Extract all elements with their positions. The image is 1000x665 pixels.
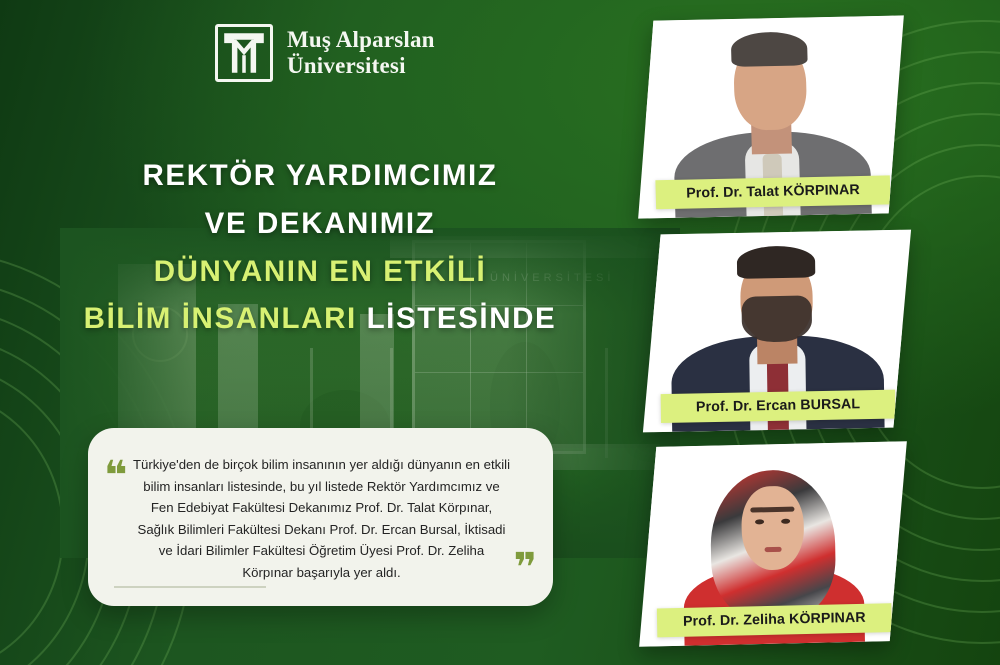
logo-glyph-icon <box>222 31 266 75</box>
name-banner: Prof. Dr. Zeliha KÖRPINAR <box>657 603 892 637</box>
headline-line-4-accent: BİLİM İNSANLARI <box>84 302 367 335</box>
headline: REKTÖR YARDIMCIMIZ VE DEKANIMIZ DÜNYANIN… <box>0 152 640 343</box>
poster-canvas: ÜNİVERSİTESİ Muş Alparslan Üniversitesi … <box>0 0 1000 665</box>
quote-open-icon: ❝ <box>104 456 127 496</box>
quote-card: ❝ Türkiye'den de birçok bilim insanının … <box>88 428 553 606</box>
quote-text: Türkiye'den de birçok bilim insanının ye… <box>132 454 511 583</box>
brand-logo: Muş Alparslan Üniversitesi <box>215 24 435 82</box>
quote-divider <box>114 586 266 588</box>
portrait-card-ercan-bursal: Prof. Dr. Ercan BURSAL <box>643 230 911 433</box>
name-banner: Prof. Dr. Talat KÖRPINAR <box>655 175 890 209</box>
brand-line-2: Üniversitesi <box>287 53 435 79</box>
headline-line-3: DÜNYANIN EN ETKİLİ <box>0 248 640 296</box>
portrait-card-talat-korpinar: Prof. Dr. Talat KÖRPINAR <box>638 15 904 218</box>
brand-name: Muş Alparslan Üniversitesi <box>287 27 435 79</box>
headline-line-4-plain: LİSTESİNDE <box>367 302 557 335</box>
portrait-card-zeliha-korpinar: Prof. Dr. Zeliha KÖRPINAR <box>639 441 907 647</box>
name-banner: Prof. Dr. Ercan BURSAL <box>661 390 896 423</box>
quote-close-icon: ❞ <box>514 548 537 588</box>
headline-line-4: BİLİM İNSANLARI LİSTESİNDE <box>0 295 640 343</box>
brand-line-1: Muş Alparslan <box>287 27 435 53</box>
headline-line-1: REKTÖR YARDIMCIMIZ <box>0 152 640 200</box>
university-arch-logo-icon <box>215 24 273 82</box>
headline-line-2: VE DEKANIMIZ <box>0 200 640 248</box>
